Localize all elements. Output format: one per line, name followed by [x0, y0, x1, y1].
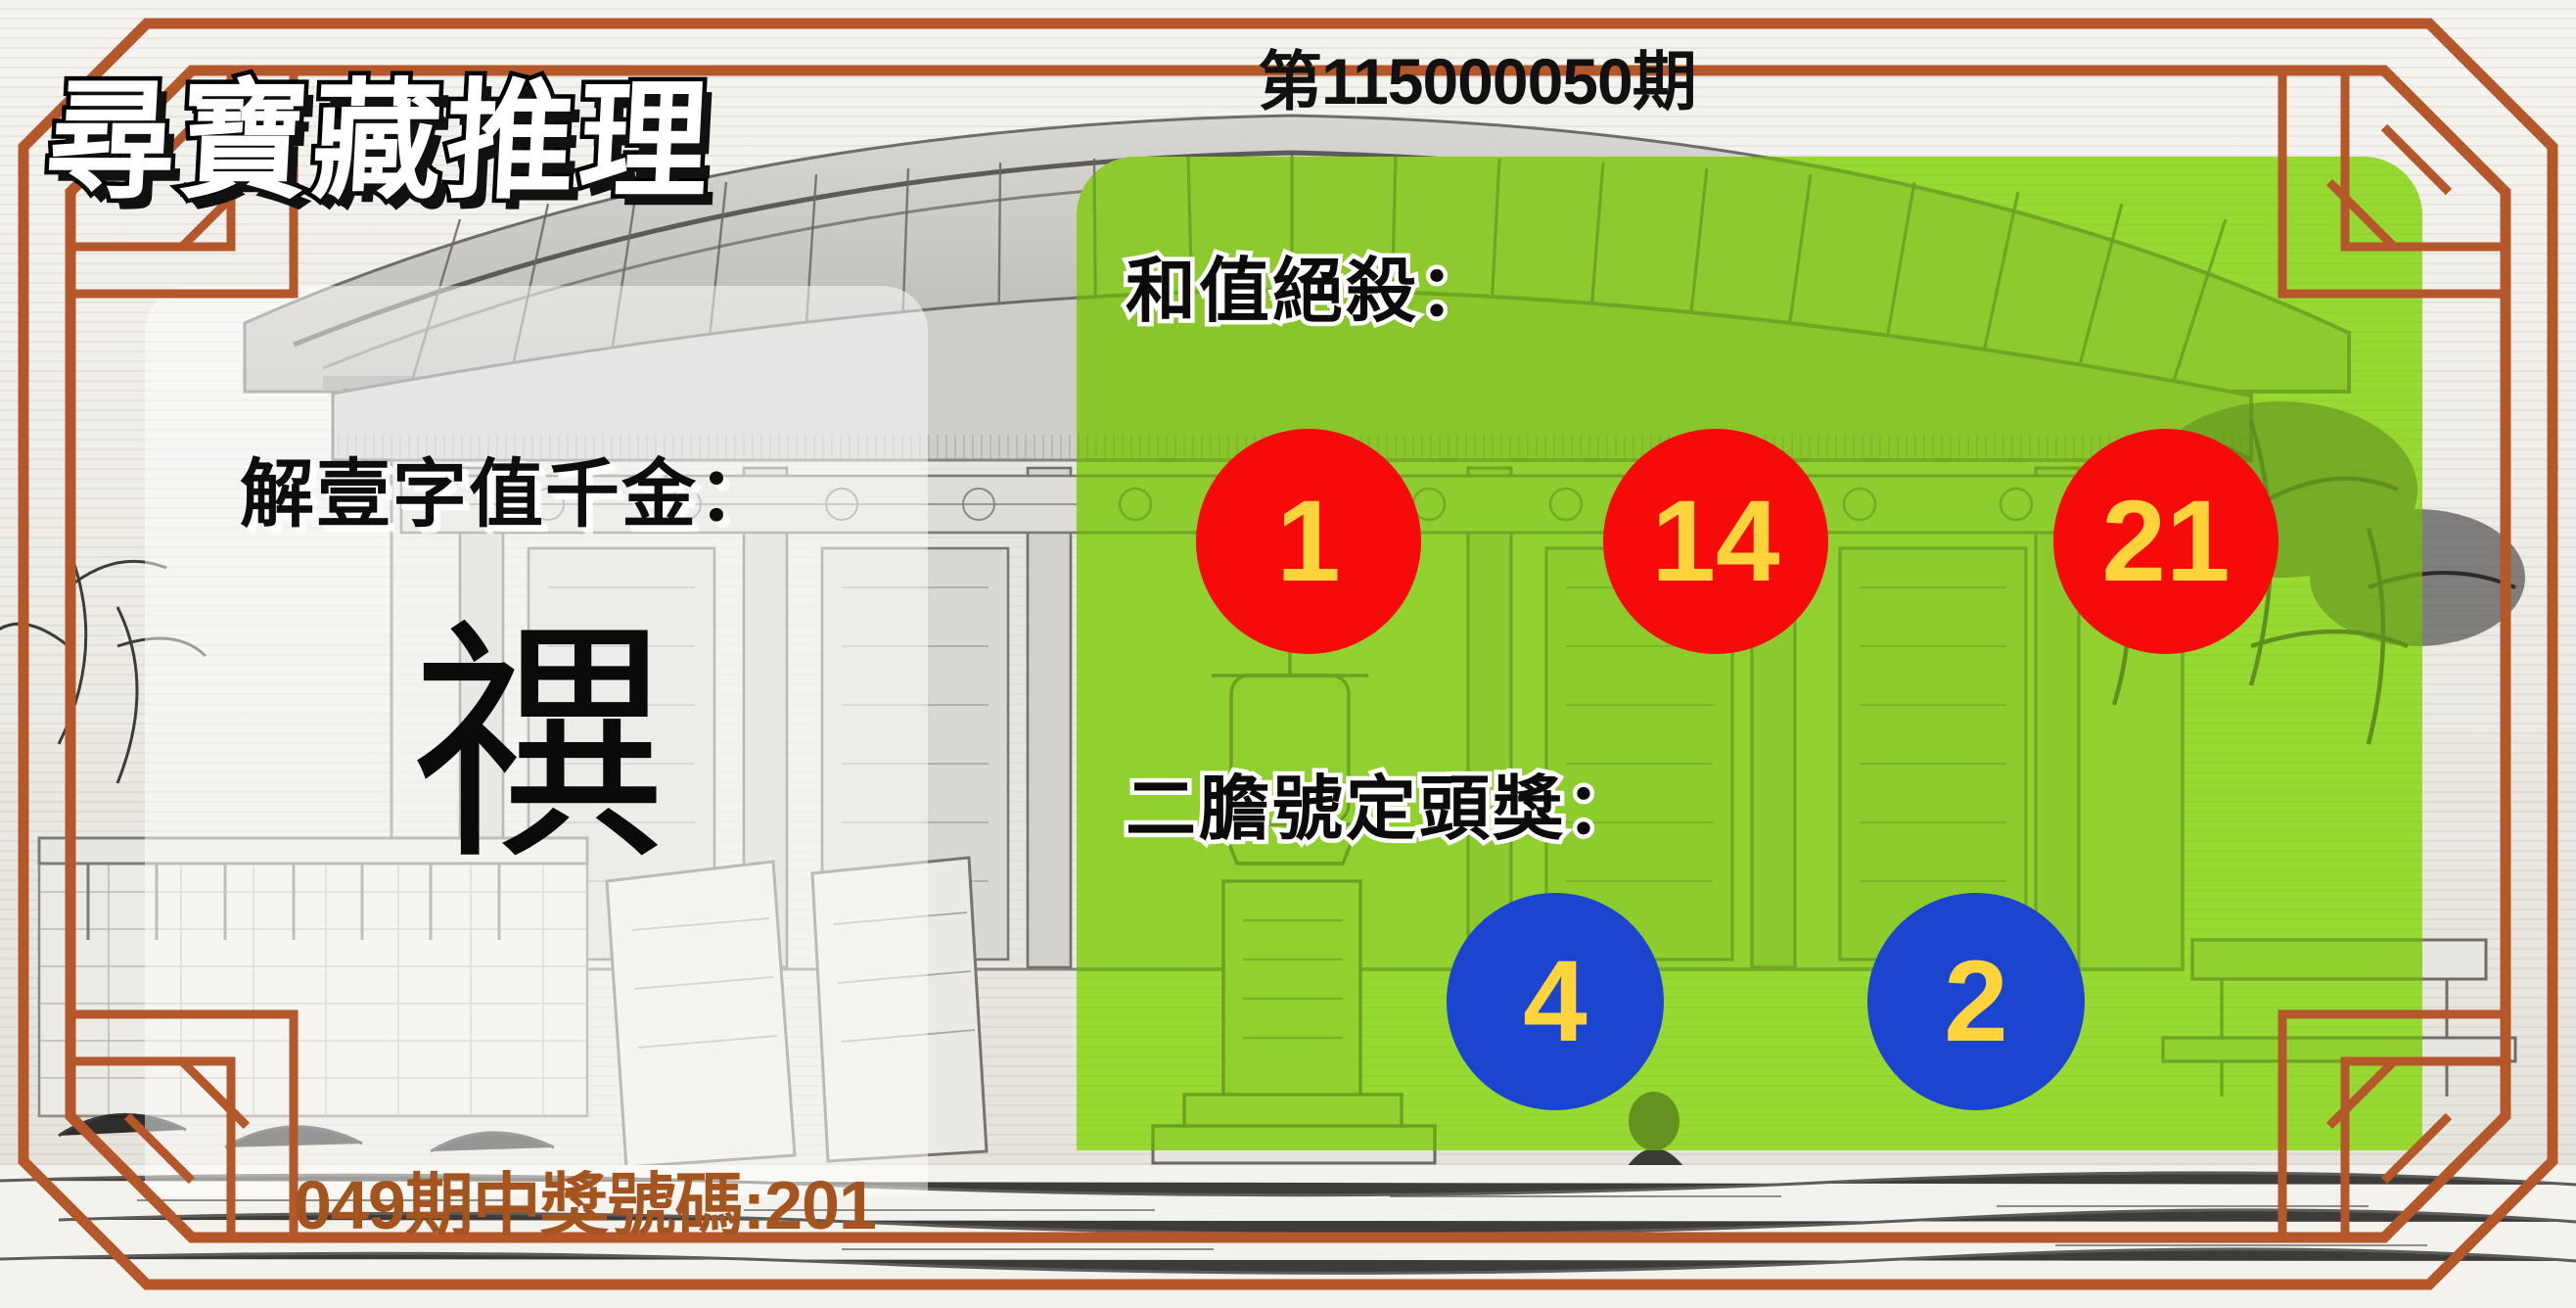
number-ball-red-2: 14 — [1603, 429, 1828, 654]
number-ball-red-3: 21 — [2053, 429, 2278, 654]
page-title: 尋寶藏推理 — [42, 37, 717, 224]
issue-number-label: 第115000050期 — [1258, 29, 1696, 123]
group-one-heading: 和值絕殺： — [1126, 233, 1493, 336]
previous-winning-number: 049期中獎號碼:201 — [294, 1150, 876, 1249]
featured-character: 禩 — [391, 599, 685, 893]
number-ball-blue-2: 2 — [1867, 893, 2085, 1110]
group-two-heading: 二膽號定頭獎： — [1126, 751, 1639, 854]
left-section-heading: 解壹字值千金： — [240, 434, 774, 541]
number-ball-red-1: 1 — [1196, 429, 1421, 654]
number-ball-blue-1: 4 — [1447, 893, 1664, 1110]
lottery-poster: 尋寶藏推理 第115000050期 解壹字值千金： 禩 049期中獎號碼:201… — [0, 0, 2576, 1308]
